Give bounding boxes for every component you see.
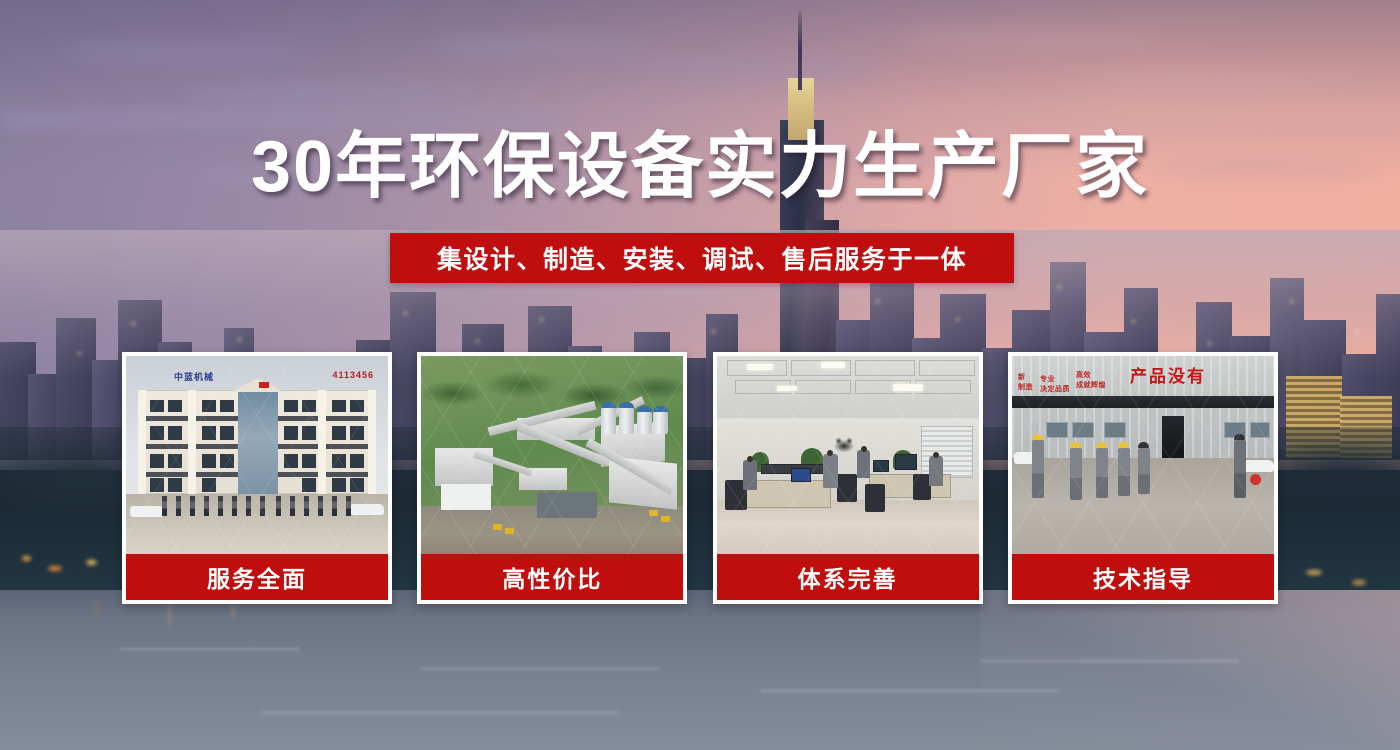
tower-spire [798, 12, 802, 90]
feature-card[interactable]: 中蓝机械 4113456 服务全面 [122, 352, 392, 604]
feature-card-label: 高性价比 [421, 554, 683, 600]
hq-phone-text: 4113456 [332, 370, 374, 380]
company-headquarters-photo: 中蓝机械 4113456 [126, 356, 388, 554]
subtitle-text: 集设计、制造、安装、调试、售后服务于一体 [437, 240, 967, 276]
production-plant-aerial-photo [421, 356, 683, 554]
feature-card-label: 服务全面 [126, 554, 388, 600]
feature-card[interactable]: 体系完善 [713, 352, 983, 604]
hero-banner: 30年环保设备实力生产厂家 集设计、制造、安装、调试、售后服务于一体 [0, 0, 1400, 750]
hq-sign-text: 中蓝机械 [174, 370, 214, 383]
feature-card[interactable]: 产品没有 新制造 专业决定品质 高效成就辉煌 [1008, 352, 1278, 604]
feature-card-label: 体系完善 [717, 554, 979, 600]
feature-card[interactable]: 高性价比 [417, 352, 687, 604]
water-sunset-reflection [980, 590, 1400, 750]
page-title: 30年环保设备实力生产厂家 [0, 128, 1400, 207]
factory-workers-photo: 产品没有 新制造 专业决定品质 高效成就辉煌 [1012, 356, 1274, 554]
office-interior-photo [717, 356, 979, 554]
feature-card-list: 中蓝机械 4113456 服务全面 [122, 352, 1278, 604]
feature-card-label: 技术指导 [1012, 554, 1274, 600]
subtitle-banner: 集设计、制造、安装、调试、售后服务于一体 [390, 233, 1014, 283]
